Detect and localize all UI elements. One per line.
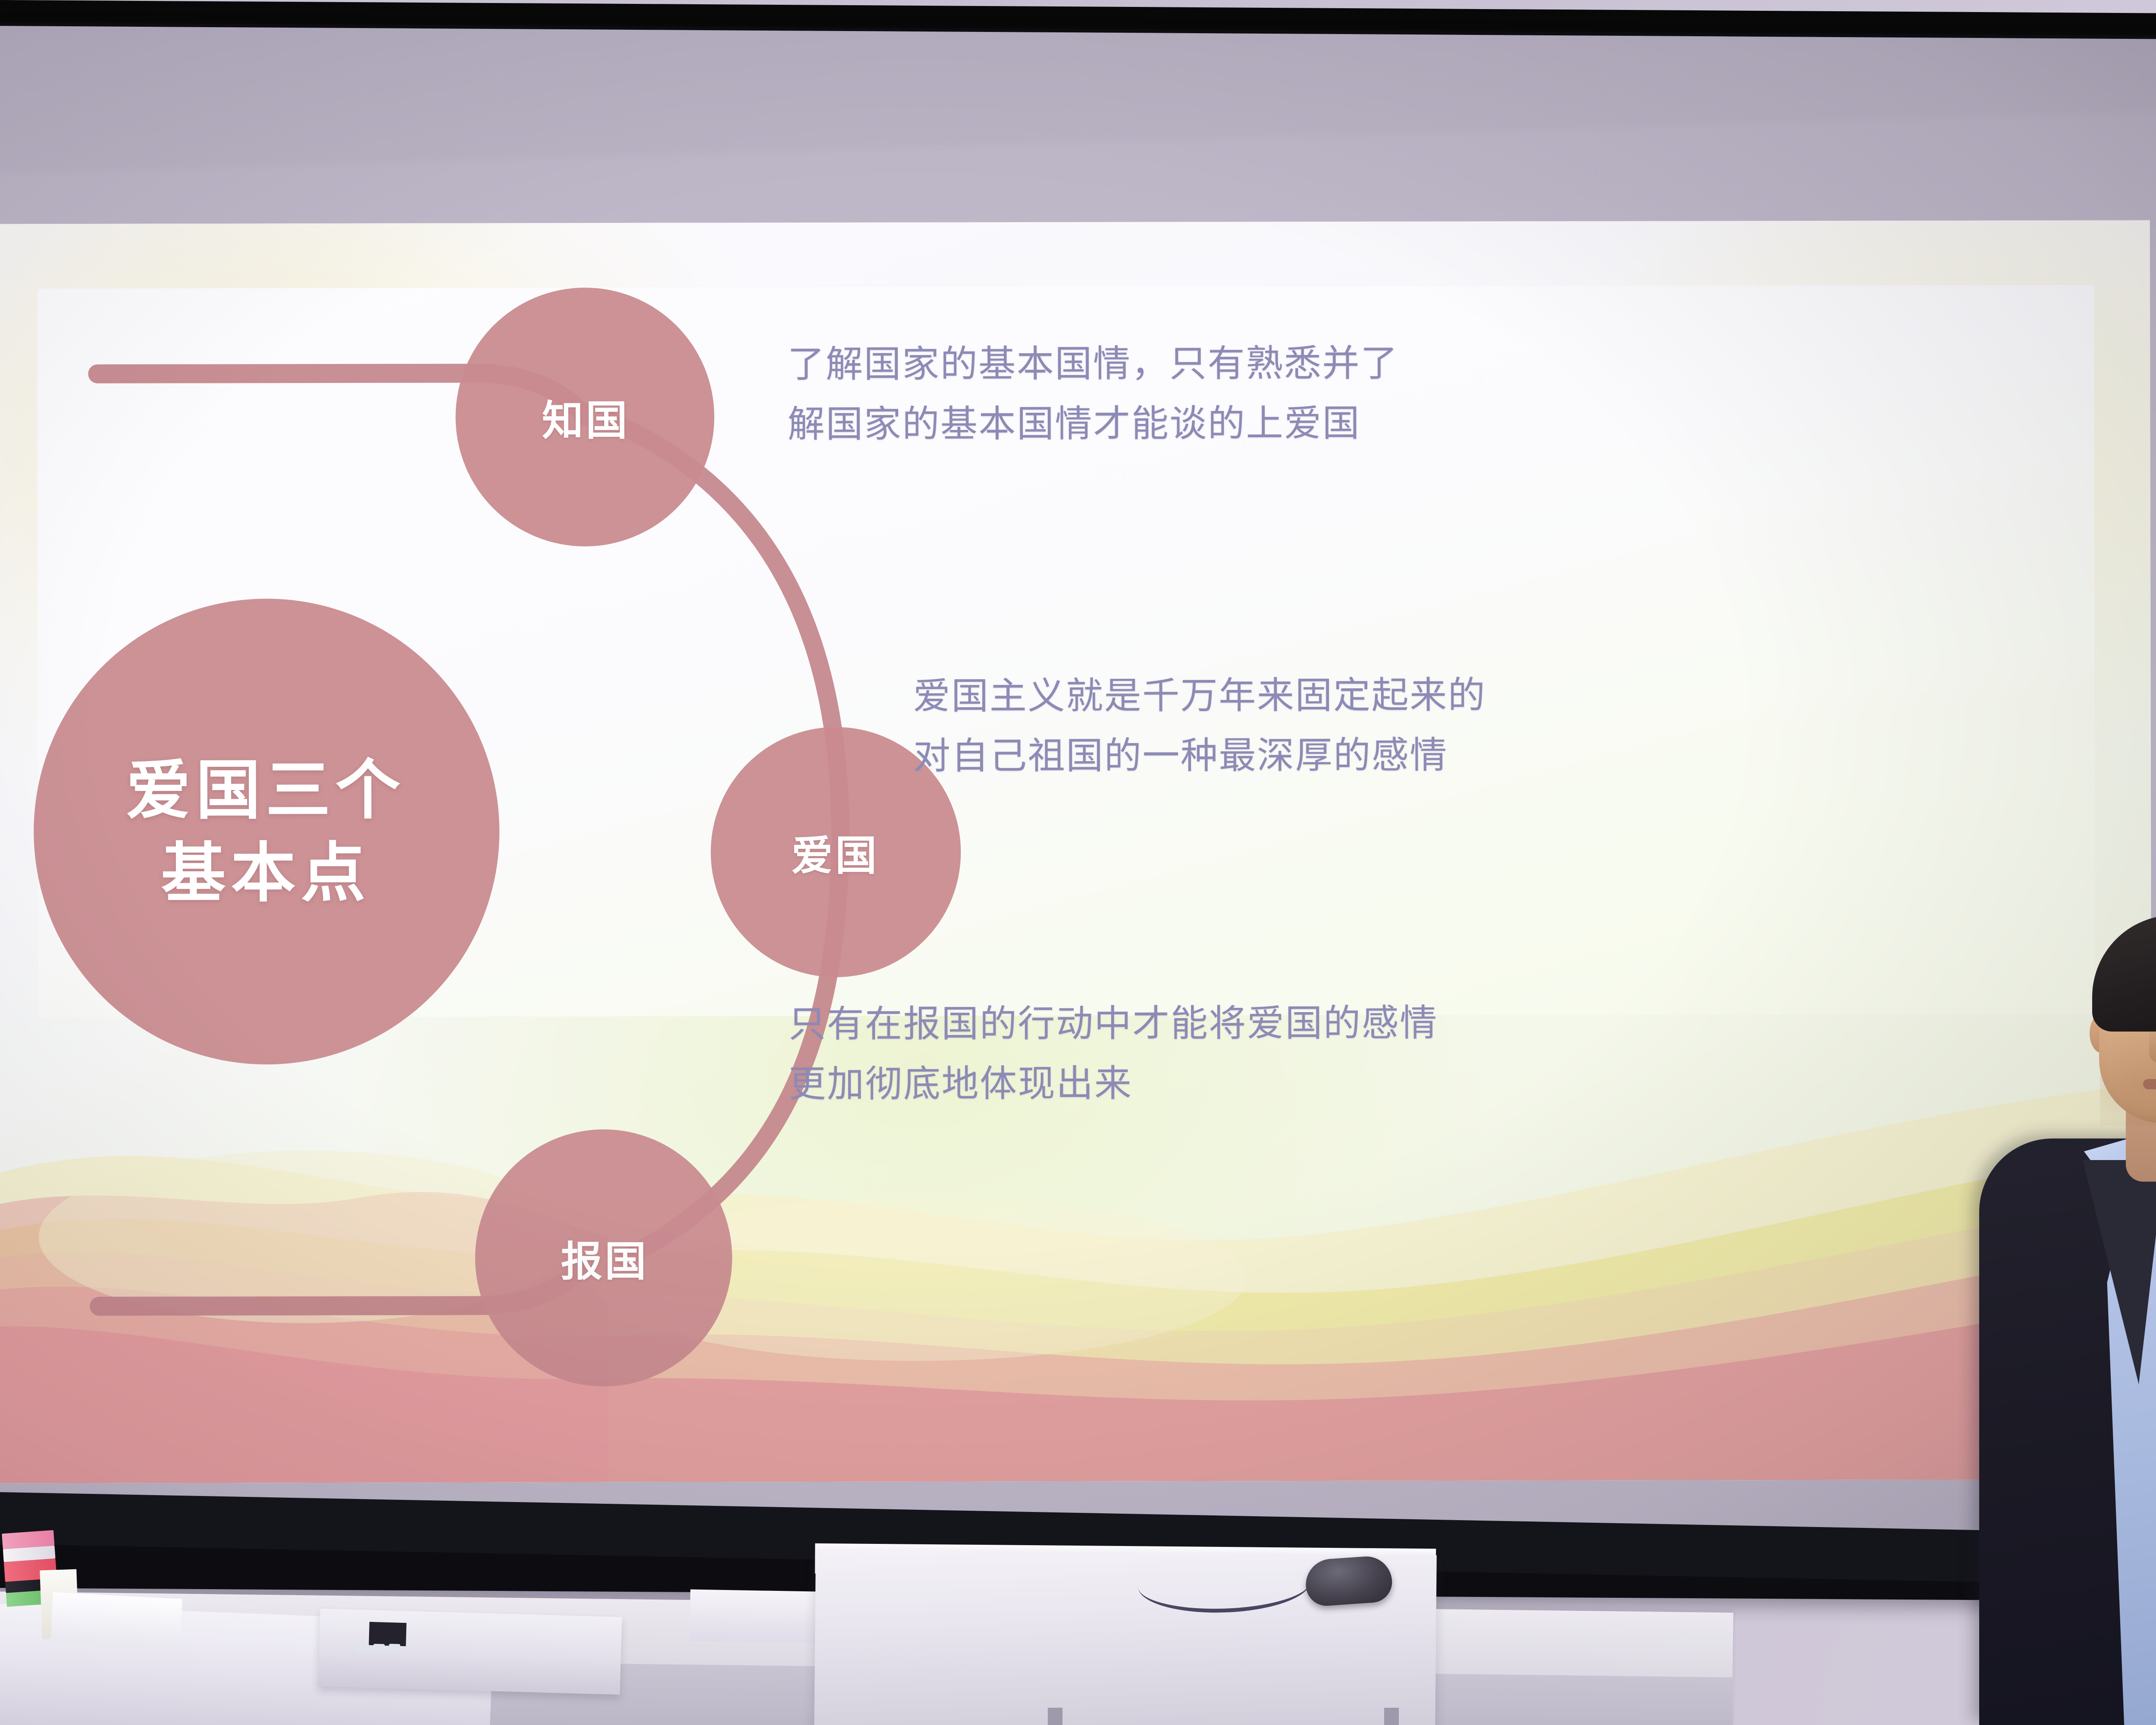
- paragraph-baoguo-line-2: 更加彻底地体现出来: [789, 1053, 1694, 1115]
- classroom-scene: 爱国三个 基本点 知国 爱国 报国 了解国家的基本国情，只有熟悉并了 解国家的基…: [0, 0, 2156, 1725]
- presenter: [1940, 884, 2156, 1725]
- paragraph-zhiguo-line-2: 解国家的基本国情才能谈的上爱国: [787, 393, 1650, 455]
- paragraph-aiguo-line-1: 爱国主义就是千万年来固定起来的: [913, 665, 1776, 727]
- paragraph-baoguo: 只有在报国的行动中才能将爱国的感情 更加彻底地体现出来: [789, 993, 1694, 1114]
- podium-leg: [1048, 1708, 1062, 1725]
- presenter-lapel: [2083, 1160, 2156, 1384]
- presentation-slide: 爱国三个 基本点 知国 爱国 报国 了解国家的基本国情，只有熟悉并了 解国家的基…: [0, 220, 2152, 1483]
- presenter-mouth: [2143, 1079, 2156, 1089]
- projection-screen-surface: 爱国三个 基本点 知国 爱国 报国 了解国家的基本国情，只有熟悉并了 解国家的基…: [0, 26, 2156, 1557]
- computer-mouse[interactable]: [1304, 1555, 1393, 1607]
- paragraph-zhiguo-line-1: 了解国家的基本国情，只有熟悉并了: [787, 333, 1650, 395]
- console-button[interactable]: [358, 1644, 369, 1652]
- paragraph-baoguo-line-1: 只有在报国的行动中才能将爱国的感情: [789, 993, 1694, 1054]
- paragraph-aiguo: 爱国主义就是千万年来固定起来的 对自己祖国的一种最深厚的感情: [913, 665, 1776, 787]
- projected-slide-area: 爱国三个 基本点 知国 爱国 报国 了解国家的基本国情，只有熟悉并了 解国家的基…: [0, 220, 2152, 1483]
- console-button[interactable]: [373, 1644, 385, 1652]
- presenter-hair: [2092, 915, 2156, 1032]
- paragraph-zhiguo: 了解国家的基本国情，只有熟悉并了 解国家的基本国情才能谈的上爱国: [787, 333, 1650, 455]
- presenter-face-shading: [2100, 1026, 2156, 1126]
- paragraph-aiguo-line-2: 对自己祖国的一种最深厚的感情: [913, 725, 1776, 787]
- projection-screen-frame: 爱国三个 基本点 知国 爱国 报国 了解国家的基本国情，只有熟悉并了 解国家的基…: [0, 22, 2156, 1602]
- console-display: [369, 1622, 406, 1646]
- podium-leg: [1384, 1708, 1399, 1725]
- console-button[interactable]: [389, 1644, 400, 1652]
- paper-sheet: [50, 1592, 182, 1651]
